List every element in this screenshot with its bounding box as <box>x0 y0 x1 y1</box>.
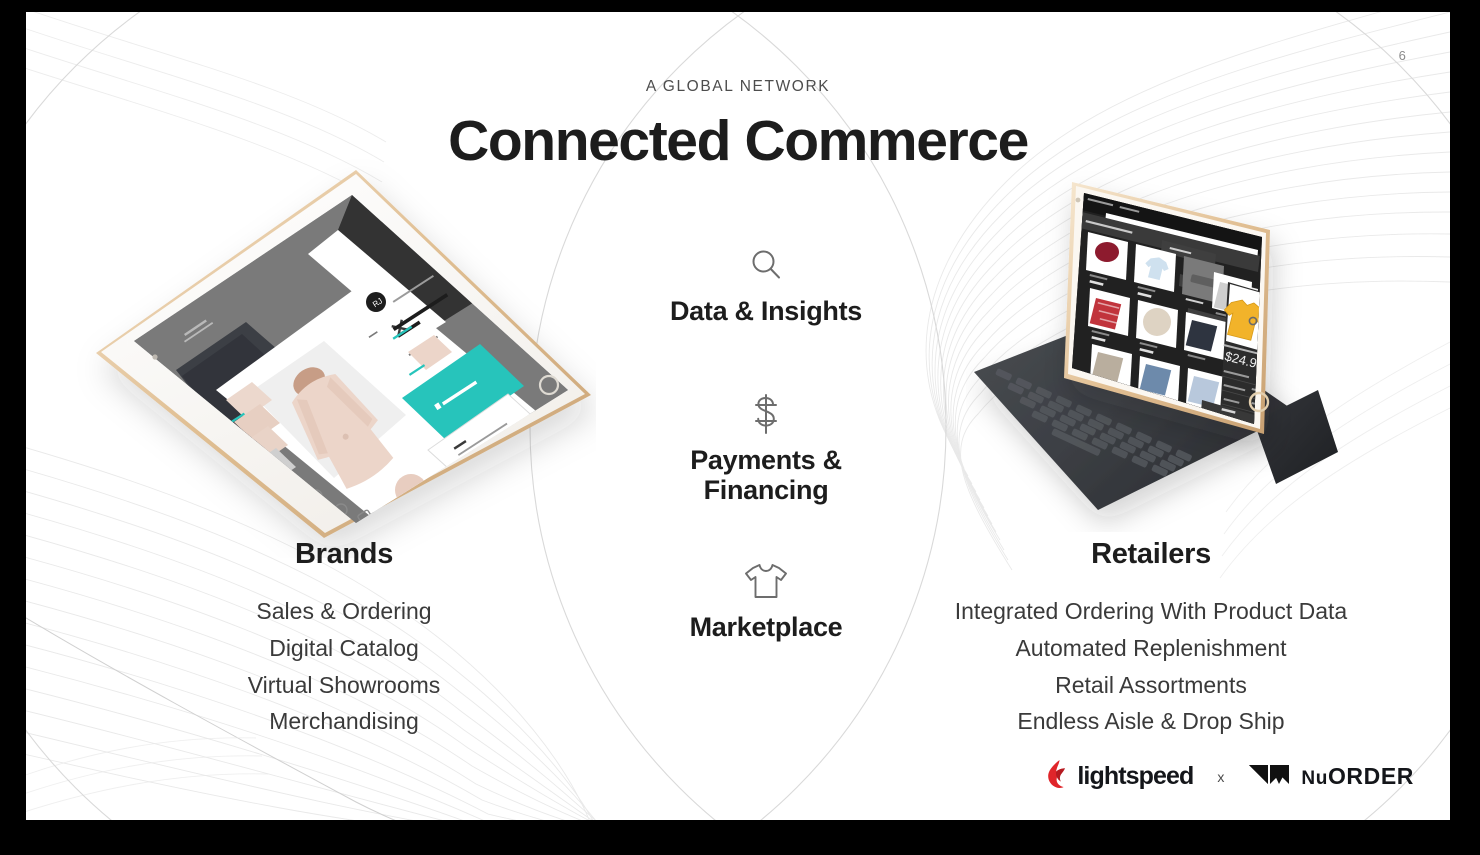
tablet-right-retail-pos: $24.99 <box>966 132 1396 532</box>
retailers-list: Integrated Ordering With Product Data Au… <box>926 593 1376 740</box>
tablet-left-brands-catalog: RJ <box>56 138 596 558</box>
search-icon <box>566 240 966 290</box>
page-title: Connected Commerce <box>26 108 1450 174</box>
column-brands: Brands Sales & Ordering Digital Catalog … <box>144 538 544 740</box>
eyebrow-label: A GLOBAL NETWORK <box>26 78 1450 96</box>
lightspeed-logo: lightspeed <box>1045 759 1193 794</box>
brands-heading: Brands <box>144 538 544 571</box>
lightspeed-wordmark: lightspeed <box>1077 762 1193 791</box>
column-retailers: Retailers Integrated Ordering With Produ… <box>926 538 1376 740</box>
brands-list: Sales & Ordering Digital Catalog Virtual… <box>144 593 544 740</box>
nuorder-mark-icon <box>1248 761 1292 792</box>
pillar-label-line2: Financing <box>704 475 829 505</box>
list-item: Automated Replenishment <box>926 630 1376 667</box>
pillar-label-data-insights: Data & Insights <box>566 296 966 327</box>
pillar-label-payments-financing: Payments & Financing <box>566 445 966 506</box>
list-item: Retail Assortments <box>926 667 1376 704</box>
list-item: Merchandising <box>144 703 544 740</box>
list-item: Digital Catalog <box>144 630 544 667</box>
logo-bar: lightspeed x NuORDER <box>1045 759 1414 794</box>
list-item: Sales & Ordering <box>144 593 544 630</box>
list-item: Integrated Ordering With Product Data <box>926 593 1376 630</box>
pillar-label-marketplace: Marketplace <box>566 612 966 643</box>
list-item: Endless Aisle & Drop Ship <box>926 703 1376 740</box>
pillars-group: Data & Insights Payments & Financing <box>566 240 966 642</box>
pillar-payments-financing: Payments & Financing <box>566 389 966 506</box>
slide-frame: RJ <box>0 0 1480 855</box>
dollar-sign-icon <box>566 389 966 439</box>
pillar-marketplace: Marketplace <box>566 556 966 643</box>
nuorder-wordmark: NuORDER <box>1301 763 1414 790</box>
nuorder-logo: NuORDER <box>1248 761 1414 792</box>
logo-separator-x: x <box>1213 769 1228 785</box>
retailers-heading: Retailers <box>926 538 1376 571</box>
lightspeed-flame-icon <box>1045 759 1071 794</box>
nuorder-wordmark-lower: Nu <box>1301 768 1328 789</box>
pillar-label-line1: Payments & <box>690 445 842 475</box>
page-number: 6 <box>1399 48 1406 63</box>
tshirt-icon <box>566 556 966 606</box>
pillar-data-insights: Data & Insights <box>566 240 966 327</box>
slide-canvas: RJ <box>26 12 1450 820</box>
nuorder-wordmark-upper: ORDER <box>1328 763 1414 789</box>
list-item: Virtual Showrooms <box>144 667 544 704</box>
